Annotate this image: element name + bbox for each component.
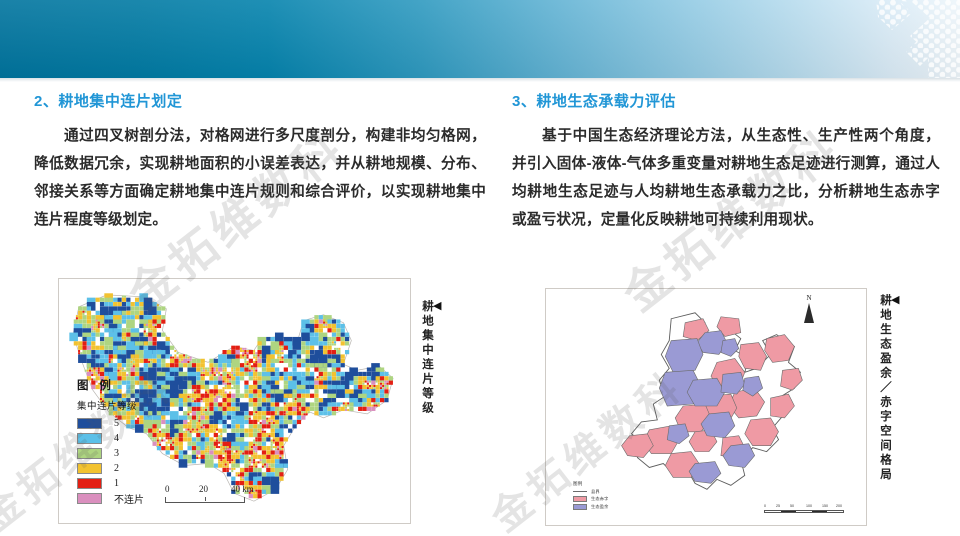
north-label: N [804,295,814,302]
legend-label-deficit: 生态赤字 [591,496,609,502]
hexagonal-dot-pattern-icon [780,0,960,78]
section-3-body: 基于中国生态经济理论方法，从生态性、生产性两个角度，并引入固体-液体-气体多重变… [512,122,940,234]
section-3-column: 3、耕地生态承载力评估 基于中国生态经济理论方法，从生态性、生产性两个角度，并引… [512,92,940,234]
legend-item: 3 [77,447,144,460]
figure-2-caption: ◀ 耕地生态盈余／赤字空间格局 [878,294,902,483]
legend-swatch-1 [77,478,102,489]
legend-label-3: 3 [114,448,119,459]
legend-item: 2 [77,462,144,475]
scale-tick-40: 40 km [231,484,254,494]
scale-tick-25: 25 [776,504,780,508]
figure-1-caption: ◀ 耕地集中连片等级 [420,300,444,416]
figure-1-legend: 图 例 集中连片等级 5 4 3 2 1 [77,377,144,507]
figure-2-legend: 图例 县界 生态赤字 生态盈余 [573,481,609,512]
legend-swatch-noncontiguous [77,493,102,504]
section-2-column: 2、耕地集中连片划定 通过四叉树剖分法，对格网进行多尺度剖分，构建非均匀格网，降… [34,92,486,234]
legend-item: 生态盈余 [573,504,609,510]
header-banner [0,0,960,78]
scale-bar-graphic [764,510,844,514]
legend-label-5: 5 [114,418,119,429]
scale-bar-graphic [165,497,245,503]
legend-item: 4 [77,432,144,445]
legend-item: 1 [77,477,144,490]
legend-label-4: 4 [114,433,119,444]
section-2-title: 2、耕地集中连片划定 [34,92,486,112]
legend-title: 图 例 [77,377,144,393]
north-arrow-glyph [804,303,814,323]
legend-label-county-boundary: 县界 [591,489,600,495]
legend-swatch-2 [77,463,102,474]
legend-label-surplus: 生态盈余 [591,504,609,510]
legend-item: 5 [77,417,144,430]
caption-arrow-icon: ◀ [433,300,444,312]
scale-tick-0: 0 [764,504,766,508]
scale-tick-150: 150 [822,504,828,508]
section-3-title: 3、耕地生态承载力评估 [512,92,940,112]
legend-swatch-surplus [573,504,587,510]
scale-tick-200: 200 [836,504,842,508]
caption-text: 耕地生态盈余／赤字空间格局 [879,294,891,483]
caption-arrow-icon: ◀ [891,294,902,306]
legend-label-noncontiguous: 不连片 [114,491,144,506]
legend-swatch-deficit [573,496,587,502]
legend-item: 不连片 [77,492,144,505]
scale-tick-100: 100 [806,504,812,508]
legend-swatch-3 [77,448,102,459]
caption-text: 耕地集中连片等级 [421,300,433,416]
section-2-body: 通过四叉树剖分法，对格网进行多尺度剖分，构建非均匀格网，降低数据冗余，实现耕地面… [34,122,486,234]
legend-item: 县界 [573,489,609,495]
legend-subtitle: 集中连片等级 [77,398,144,412]
legend-swatch-5 [77,418,102,429]
legend-swatch-county-boundary [573,491,587,492]
scale-tick-50: 50 [790,504,794,508]
legend-title: 图例 [573,481,609,487]
scale-tick-20: 20 [199,484,208,494]
scale-tick-0: 0 [165,484,170,494]
north-arrow-icon: N [804,295,814,323]
figure-1-frame: 图 例 集中连片等级 5 4 3 2 1 [58,278,411,524]
legend-label-2: 2 [114,463,119,474]
legend-label-1: 1 [114,478,119,489]
figure-1-scalebar: 0 20 40 km [165,484,257,503]
legend-swatch-4 [77,433,102,444]
figure-2-frame: N 图例 县界 生态赤字 生态盈余 0 25 50 100 [545,288,867,526]
banner-bottom-edge [0,78,960,82]
legend-item: 生态赤字 [573,496,609,502]
figure-2-scalebar: 0 25 50 100 150 200 [764,504,844,514]
